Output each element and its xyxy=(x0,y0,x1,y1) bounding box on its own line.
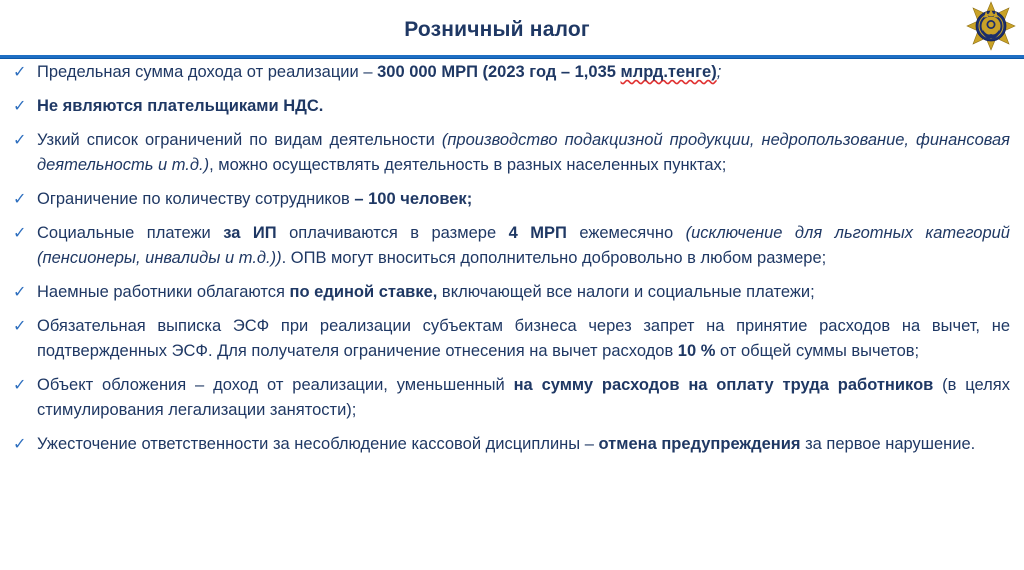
checkmark-icon: ✓ xyxy=(10,60,37,85)
text-run: на сумму расходов на оплату труда работн… xyxy=(514,376,934,394)
bold-run: 300 000 МРП (2023 год – 1,035 xyxy=(377,63,620,81)
bold-run: по единой ставке, xyxy=(290,283,438,301)
text-run: включающей все налоги и социальные плате… xyxy=(437,283,814,301)
text-run: от общей суммы вычетов; xyxy=(715,342,919,360)
bullet-item: ✓Объект обложения – доход от реализации,… xyxy=(10,373,1010,423)
text-run: 300 000 МРП (2023 год – 1,035 xyxy=(377,63,620,81)
text-run: за первое нарушение. xyxy=(801,435,976,453)
text-run: млрд.тенге) xyxy=(621,63,717,81)
text-run: Ограничение по количеству сотрудников xyxy=(37,190,354,208)
text-run: ежемесячно xyxy=(567,224,686,242)
bullet-text: Предельная сумма дохода от реализации – … xyxy=(37,60,1010,85)
text-run: Предельная сумма дохода от реализации – xyxy=(37,63,377,81)
bullet-list: ✓Предельная сумма дохода от реализации –… xyxy=(0,60,1024,466)
text-run: ; xyxy=(717,63,722,81)
bullet-item: ✓Не являются плательщиками НДС. xyxy=(10,94,1010,119)
bullet-text: Узкий список ограничений по видам деятел… xyxy=(37,128,1010,178)
bullet-text: Объект обложения – доход от реализации, … xyxy=(37,373,1010,423)
checkmark-icon: ✓ xyxy=(10,221,37,246)
text-run: Ужесточение ответственности за несоблюде… xyxy=(37,435,598,453)
checkmark-icon: ✓ xyxy=(10,94,37,119)
text-run: – 100 человек; xyxy=(354,190,472,208)
checkmark-icon: ✓ xyxy=(10,373,37,398)
header-divider xyxy=(0,55,1024,59)
bullet-item: ✓Предельная сумма дохода от реализации –… xyxy=(10,60,1010,85)
page-title: Розничный налог xyxy=(0,18,1024,42)
bullet-text: Наемные работники облагаются по единой с… xyxy=(37,280,1010,305)
text-run: 10 % xyxy=(678,342,716,360)
text-run: Не являются плательщиками НДС. xyxy=(37,97,323,115)
slide-header: Розничный налог xyxy=(0,0,1024,57)
bullet-text: Ужесточение ответственности за несоблюде… xyxy=(37,432,1010,457)
bold-run: Не являются плательщиками НДС. xyxy=(37,97,323,115)
bullet-text: Не являются плательщиками НДС. xyxy=(37,94,1010,119)
bullet-text: Обязательная выписка ЭСФ при реализации … xyxy=(37,314,1010,364)
italic-run: ; xyxy=(717,63,722,81)
text-run: , можно осуществлять деятельность в разн… xyxy=(209,156,726,174)
bullet-text: Ограничение по количеству сотрудников – … xyxy=(37,187,1010,212)
bold-run: млрд.тенге) xyxy=(621,63,717,81)
bullet-item: ✓Социальные платежи за ИП оплачиваются в… xyxy=(10,221,1010,271)
bold-run: 10 % xyxy=(678,342,716,360)
checkmark-icon: ✓ xyxy=(10,128,37,153)
text-run: оплачиваются в размере xyxy=(277,224,509,242)
text-run: Социальные платежи xyxy=(37,224,223,242)
text-run: . ОПВ могут вноситься дополнительно добр… xyxy=(282,249,827,267)
text-run: отмена предупреждения xyxy=(598,435,800,453)
bullet-item: ✓Ограничение по количеству сотрудников –… xyxy=(10,187,1010,212)
text-run: 4 МРП xyxy=(509,224,567,242)
text-run: Объект обложения – доход от реализации, … xyxy=(37,376,514,394)
checkmark-icon: ✓ xyxy=(10,187,37,212)
bullet-item: ✓Обязательная выписка ЭСФ при реализации… xyxy=(10,314,1010,364)
bold-run: за ИП xyxy=(223,224,276,242)
bullet-item: ✓Наемные работники облагаются по единой … xyxy=(10,280,1010,305)
bold-run: 4 МРП xyxy=(509,224,567,242)
bold-run: на сумму расходов на оплату труда работн… xyxy=(514,376,934,394)
bullet-text: Социальные платежи за ИП оплачиваются в … xyxy=(37,221,1010,271)
bullet-item: ✓Узкий список ограничений по видам деяте… xyxy=(10,128,1010,178)
text-run: за ИП xyxy=(223,224,276,242)
checkmark-icon: ✓ xyxy=(10,432,37,457)
text-run: Узкий список ограничений по видам деятел… xyxy=(37,131,442,149)
text-run: Наемные работники облагаются xyxy=(37,283,290,301)
checkmark-icon: ✓ xyxy=(10,314,37,339)
state-emblem-logo xyxy=(966,1,1016,51)
checkmark-icon: ✓ xyxy=(10,280,37,305)
bold-run: отмена предупреждения xyxy=(598,435,800,453)
text-run: по единой ставке, xyxy=(290,283,438,301)
bullet-item: ✓Ужесточение ответственности за несоблюд… xyxy=(10,432,1010,457)
bold-run: – 100 человек; xyxy=(354,190,472,208)
